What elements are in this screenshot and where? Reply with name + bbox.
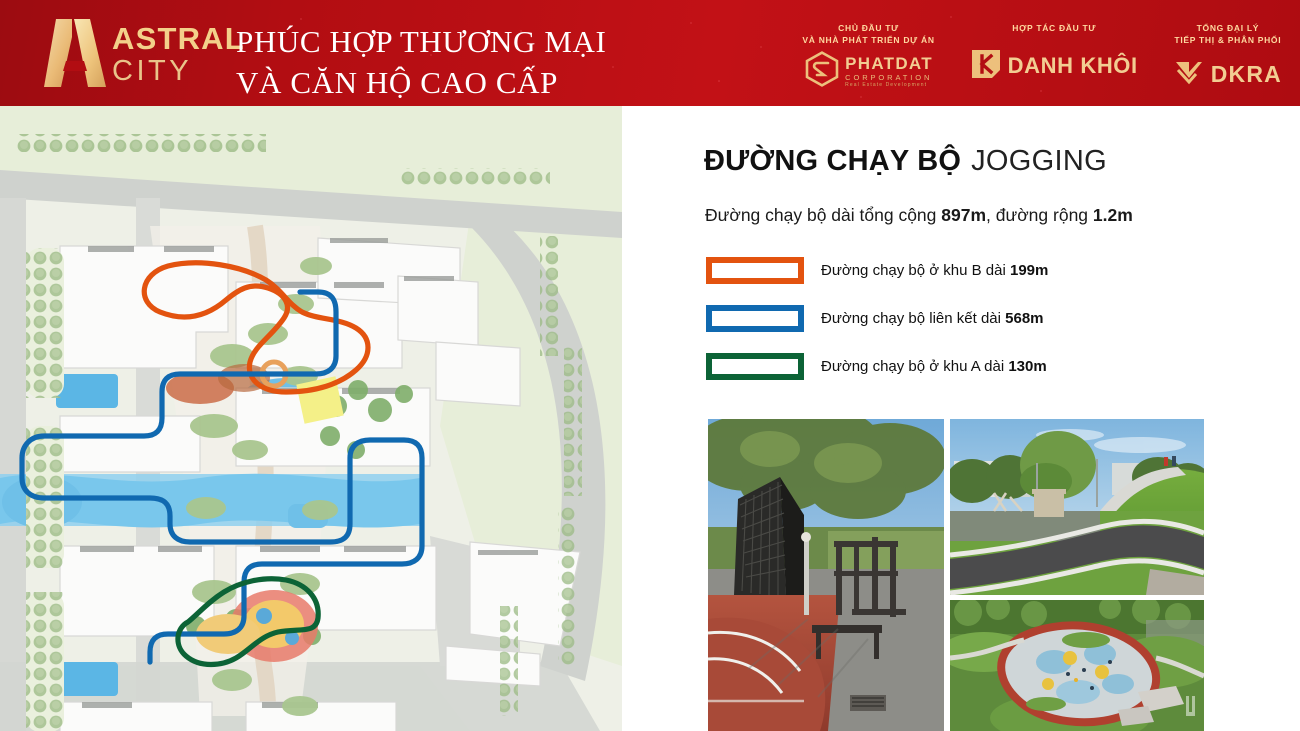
legend-value-khu-a: 130m <box>1008 358 1046 375</box>
phatdat-tagline: Real Estate Development <box>845 83 933 88</box>
photo-gallery <box>708 419 1204 731</box>
phatdat-hexagon-icon <box>804 51 840 92</box>
subtitle-pre: Đường chạy bộ dài tổng cộng <box>705 205 941 225</box>
page-title-light: JOGGING <box>971 145 1107 177</box>
legend-label-khu-a: Đường chạy bộ ở khu A dài 130m <box>821 358 1047 375</box>
tagline-line-2: VÀ CĂN HỘ CAO CẤP <box>236 63 606 104</box>
brand-name: ASTRAL <box>112 23 245 54</box>
dkra-name: DKRA <box>1211 61 1282 88</box>
phatdat-sub: CORPORATION <box>845 74 933 82</box>
photo-jogging-path-green-hill[interactable] <box>950 419 1204 595</box>
phatdat-name: PHATDAT <box>845 55 933 72</box>
header-bar: ASTRAL CITY PHÚC HỢP THƯƠNG MẠI VÀ CĂN H… <box>0 0 1300 106</box>
legend-item-khu-b[interactable]: Đường chạy bộ ở khu B dài 199m <box>706 255 1048 286</box>
slide-root: ASTRAL CITY PHÚC HỢP THƯƠNG MẠI VÀ CĂN H… <box>0 0 1300 731</box>
tagline-line-1: PHÚC HỢP THƯƠNG MẠI <box>236 22 606 63</box>
legend-label-lien-ket: Đường chạy bộ liên kết dài 568m <box>821 310 1044 327</box>
subtitle-width: 1.2m <box>1093 205 1133 225</box>
partner-dkra-caption-1: TỔNG ĐẠI LÝ <box>1174 22 1281 34</box>
partner-phatdat-caption-2: VÀ NHÀ PHÁT TRIỂN DỰ ÁN <box>802 34 934 46</box>
photo-aerial-park-playground[interactable] <box>950 600 1204 731</box>
legend-item-khu-a[interactable]: Đường chạy bộ ở khu A dài 130m <box>706 351 1048 382</box>
page-title-bold: ĐƯỜNG CHẠY BỘ <box>704 145 961 177</box>
partner-danhkhoi: HỢP TÁC ĐẦU TƯ DANH KHÔI <box>971 22 1138 84</box>
header-tagline: PHÚC HỢP THƯƠNG MẠI VÀ CĂN HỘ CAO CẤP <box>236 22 606 104</box>
subtitle-total-length: 897m <box>941 205 986 225</box>
astral-a-mark-icon <box>44 17 110 89</box>
partner-dkra: TỔNG ĐẠI LÝ TIẾP THỊ & PHÂN PHỐI DKRA <box>1174 22 1282 93</box>
masterplan-site-map[interactable] <box>0 106 622 731</box>
legend-swatch-khu-b <box>706 257 804 284</box>
photo-playground-running-track[interactable] <box>708 419 944 731</box>
info-panel: ĐƯỜNG CHẠY BỘJOGGING Đường chạy bộ dài t… <box>622 106 1300 731</box>
partner-danhkhoi-caption-1: HỢP TÁC ĐẦU TƯ <box>1012 22 1096 34</box>
page-subtitle: Đường chạy bộ dài tổng cộng 897m, đường … <box>705 205 1133 226</box>
route-legend: Đường chạy bộ ở khu B dài 199m Đường chạ… <box>706 255 1048 399</box>
legend-value-lien-ket: 568m <box>1005 310 1043 327</box>
legend-label-khu-b: Đường chạy bộ ở khu B dài 199m <box>821 262 1048 279</box>
legend-swatch-khu-a <box>706 353 804 380</box>
dkra-shield-icon <box>1174 58 1204 91</box>
partner-dkra-caption-2: TIẾP THỊ & PHÂN PHỐI <box>1174 34 1281 46</box>
legend-item-lien-ket[interactable]: Đường chạy bộ liên kết dài 568m <box>706 303 1048 334</box>
legend-swatch-lien-ket <box>706 305 804 332</box>
brand-sub: CITY <box>112 57 245 86</box>
page-title: ĐƯỜNG CHẠY BỘJOGGING <box>704 145 1107 178</box>
partner-logos: CHỦ ĐẦU TƯ VÀ NHÀ PHÁT TRIỂN DỰ ÁN PHATD… <box>766 22 1282 93</box>
brand-logo[interactable]: ASTRAL CITY <box>44 16 245 90</box>
danhkhoi-name: DANH KHÔI <box>1008 53 1138 79</box>
legend-value-khu-b: 199m <box>1010 262 1048 279</box>
partner-phatdat: CHỦ ĐẦU TƯ VÀ NHÀ PHÁT TRIỂN DỰ ÁN PHATD… <box>802 22 934 90</box>
danhkhoi-square-k-icon <box>971 49 1001 84</box>
partner-phatdat-caption-1: CHỦ ĐẦU TƯ <box>802 22 934 34</box>
subtitle-mid: , đường rộng <box>986 205 1093 225</box>
